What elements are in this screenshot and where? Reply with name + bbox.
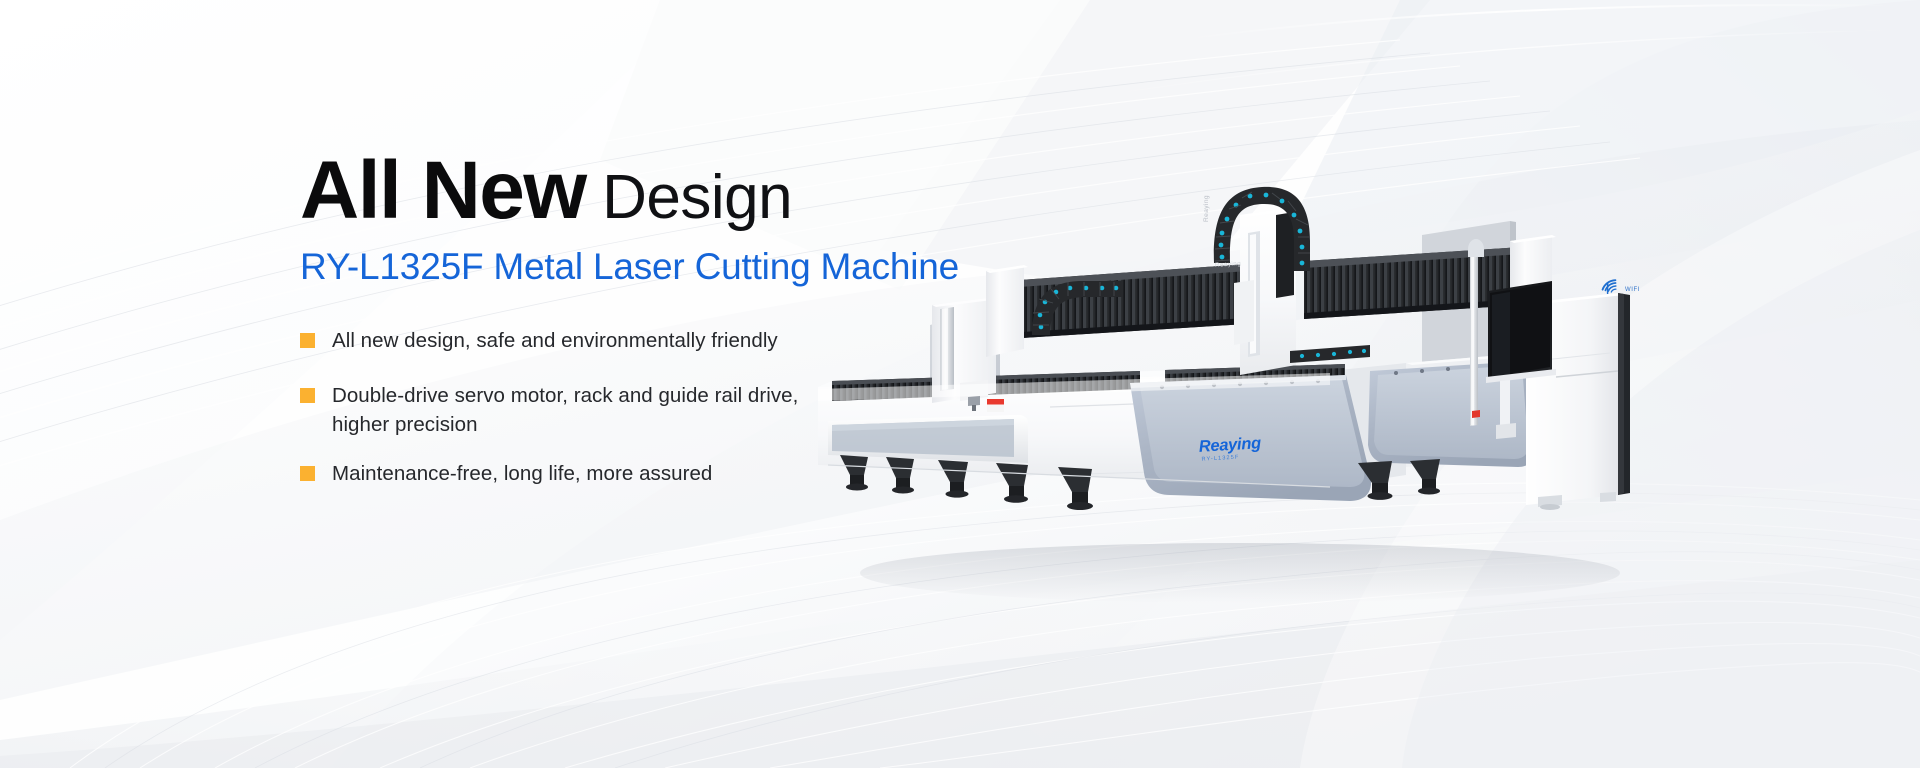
- page-title: All New Design: [300, 150, 960, 232]
- list-item: Double-drive servo motor, rack and guide…: [300, 381, 840, 439]
- headline-strong: All New: [300, 145, 586, 236]
- square-bullet-icon: [300, 388, 315, 403]
- square-bullet-icon: [300, 333, 315, 348]
- square-bullet-icon: [300, 466, 315, 481]
- hero-text-block: All New Design RY-L1325F Metal Laser Cut…: [300, 150, 960, 488]
- feature-list: All new design, safe and environmentally…: [300, 326, 840, 488]
- list-item-label: Maintenance-free, long life, more assure…: [332, 459, 712, 488]
- list-item-label: Double-drive servo motor, rack and guide…: [332, 381, 840, 439]
- list-item: Maintenance-free, long life, more assure…: [300, 459, 840, 488]
- list-item: All new design, safe and environmentally…: [300, 326, 840, 355]
- product-subtitle: RY-L1325F Metal Laser Cutting Machine: [300, 246, 960, 288]
- list-item-label: All new design, safe and environmentally…: [332, 326, 778, 355]
- headline-light: Design: [602, 163, 792, 232]
- product-hero-banner: All New Design RY-L1325F Metal Laser Cut…: [0, 0, 1920, 768]
